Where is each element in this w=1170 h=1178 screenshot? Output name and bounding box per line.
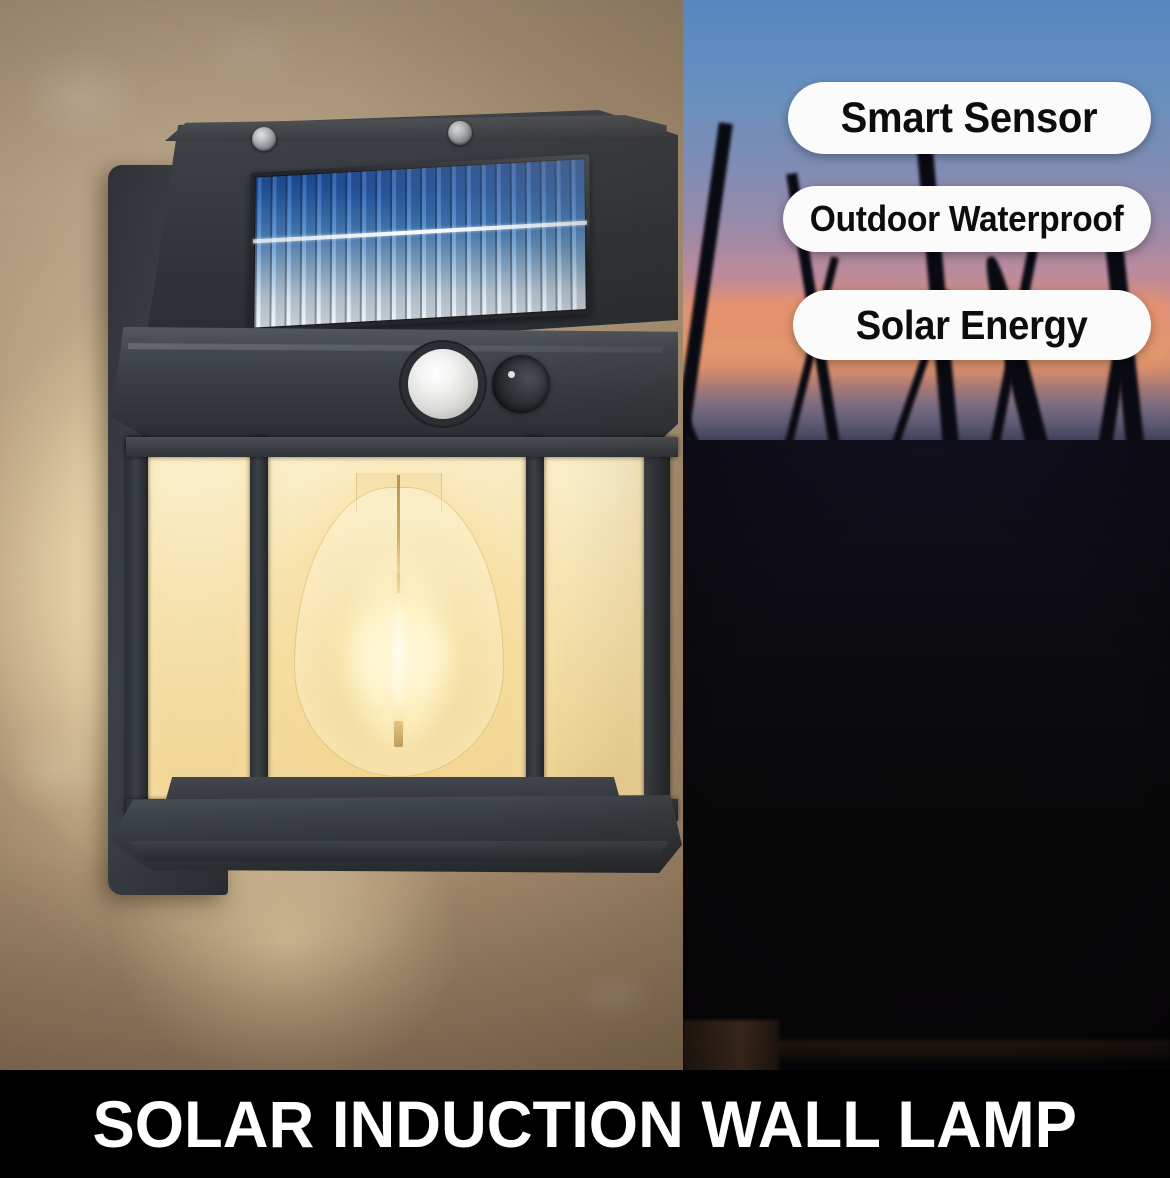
lamp-photo-panel bbox=[0, 0, 683, 1070]
feature-pill-outdoor-waterproof[interactable]: Outdoor Waterproof bbox=[783, 186, 1151, 252]
feature-pill-label: Solar Energy bbox=[856, 302, 1088, 349]
product-marketing-image: Smart Sensor Outdoor Waterproof Solar En… bbox=[0, 0, 1170, 1178]
feature-pill-solar-energy[interactable]: Solar Energy bbox=[793, 290, 1151, 360]
feature-pill-label: Smart Sensor bbox=[841, 94, 1098, 143]
feature-pill-smart-sensor[interactable]: Smart Sensor bbox=[788, 82, 1151, 154]
deck-scene bbox=[683, 440, 1170, 1070]
feature-pill-label: Outdoor Waterproof bbox=[810, 198, 1124, 240]
product-title-banner: SOLAR INDUCTION WALL LAMP bbox=[0, 1070, 1170, 1178]
outdoor-scene-panel bbox=[683, 0, 1170, 1070]
wall-vignette bbox=[0, 0, 683, 1070]
cloud-band bbox=[683, 398, 1170, 424]
scene-vignette bbox=[683, 440, 1170, 1070]
product-title: SOLAR INDUCTION WALL LAMP bbox=[93, 1086, 1077, 1162]
